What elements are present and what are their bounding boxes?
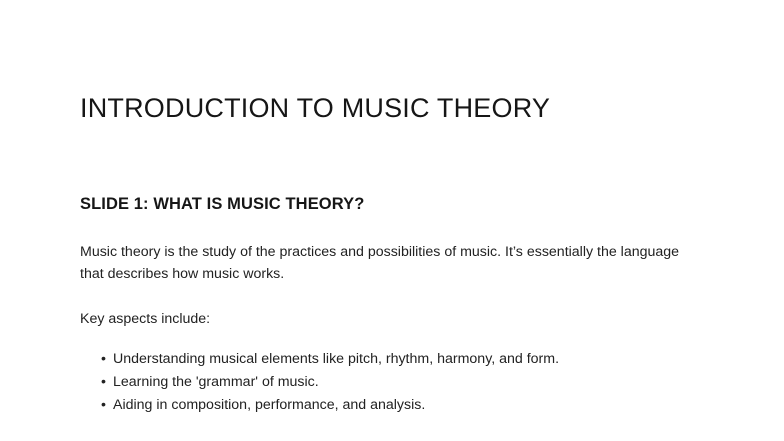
list-lead-in-text: Key aspects include: [80, 285, 700, 330]
document-content: INTRODUCTION TO MUSIC THEORY SLIDE 1: WH… [80, 0, 700, 417]
list-item: • Learning the 'grammar' of music. [80, 371, 700, 394]
section-paragraph: Music theory is the study of the practic… [80, 214, 695, 285]
list-item: • Aiding in composition, performance, an… [80, 394, 700, 417]
key-aspects-list: • Understanding musical elements like pi… [80, 330, 700, 417]
list-item-label: Aiding in composition, performance, and … [113, 397, 425, 413]
bullet-icon: • [101, 371, 106, 394]
list-item-label: Learning the 'grammar' of music. [113, 374, 319, 390]
page-title: INTRODUCTION TO MUSIC THEORY [80, 0, 700, 124]
bullet-icon: • [101, 394, 106, 417]
document-page: INTRODUCTION TO MUSIC THEORY SLIDE 1: WH… [0, 0, 784, 441]
bullet-icon: • [101, 348, 106, 371]
section-heading: SLIDE 1: WHAT IS MUSIC THEORY? [80, 124, 700, 214]
list-item-label: Understanding musical elements like pitc… [113, 351, 559, 367]
list-item: • Understanding musical elements like pi… [80, 348, 700, 371]
